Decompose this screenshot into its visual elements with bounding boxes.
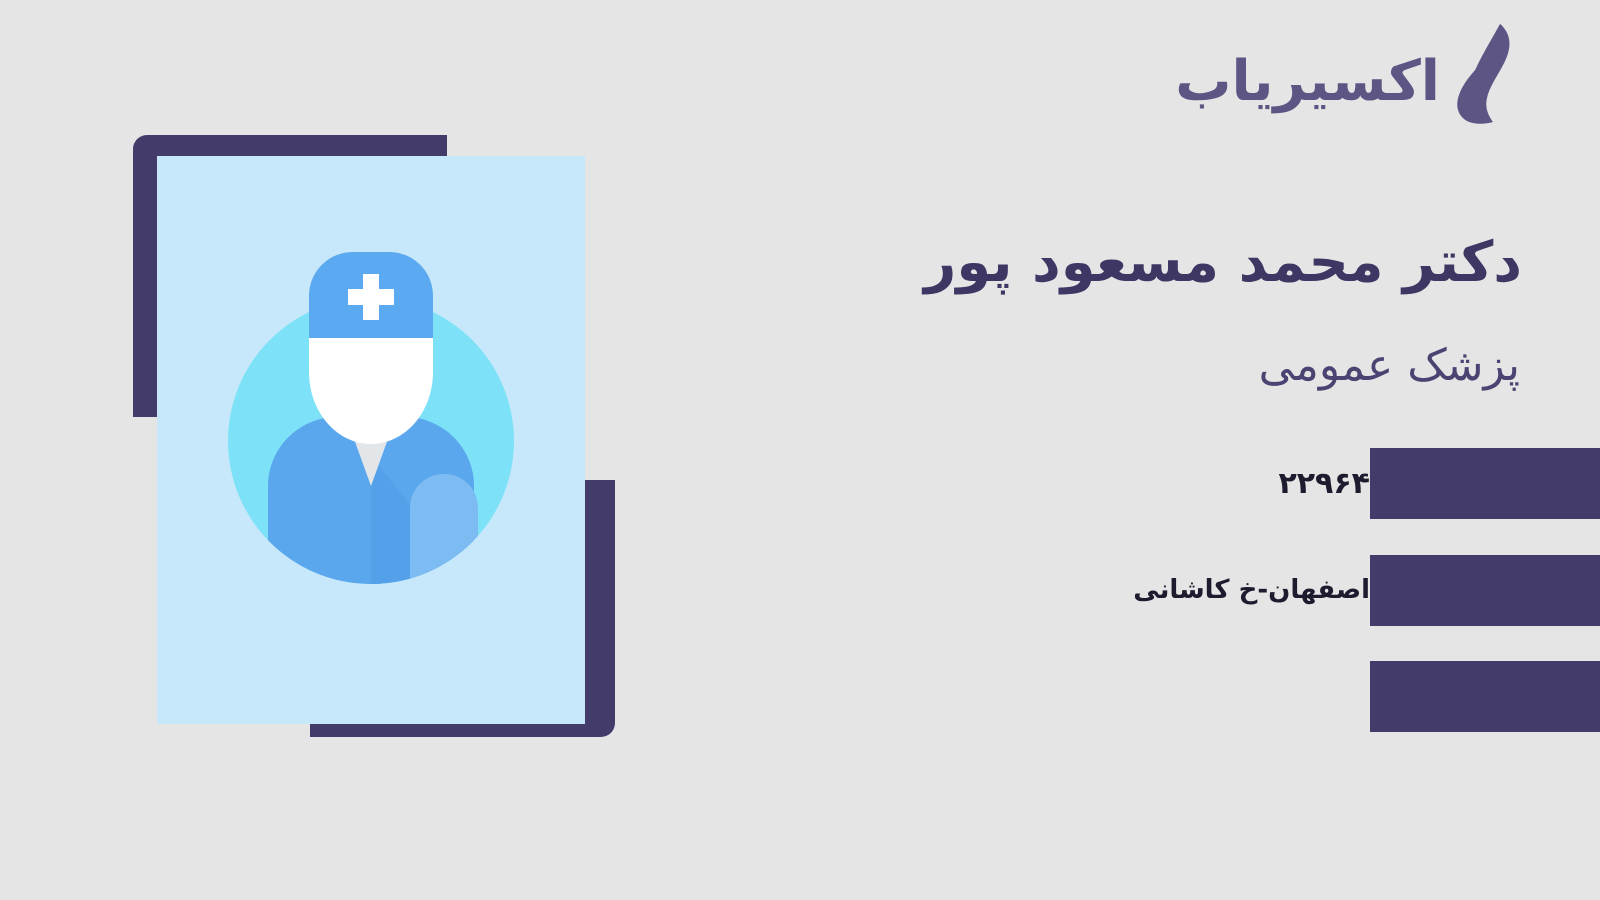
info-row-code: ۲۲۹۶۴ (740, 447, 1600, 519)
doctor-name: دکتر محمد مسعود پور (924, 228, 1522, 298)
decor-bar-1 (1370, 448, 1600, 519)
doctor-avatar-icon (157, 156, 585, 724)
info-row-extra (740, 660, 1600, 732)
info-row-address: اصفهان-خ کاشانی (740, 554, 1600, 626)
doctor-illustration (0, 0, 700, 900)
doctor-specialty: پزشک عمومی (1259, 338, 1520, 393)
doctor-code: ۲۲۹۶۴ (1250, 466, 1370, 501)
decor-bar-3 (1370, 661, 1600, 732)
decor-bar-2 (1370, 555, 1600, 626)
doctor-info-panel: دکتر محمد مسعود پور پزشک عمومی ۲۲۹۶۴ اصف… (740, 0, 1600, 900)
business-card-canvas: اکسیریاب (0, 0, 1600, 900)
doctor-address: اصفهان-خ کاشانی (1105, 575, 1370, 605)
